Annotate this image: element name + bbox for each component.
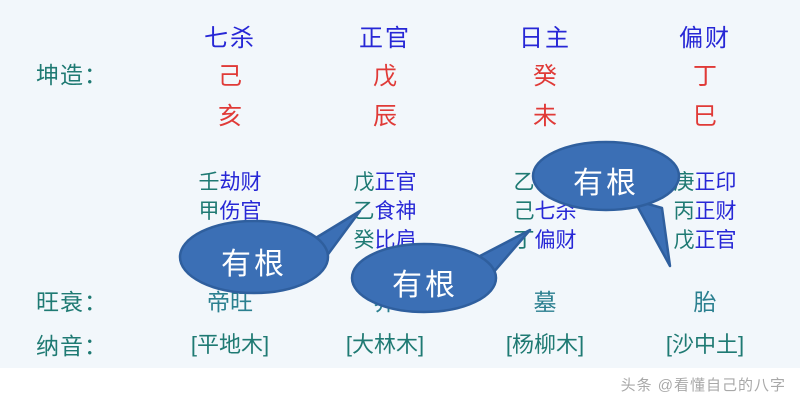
pillar-0-branch: 亥 xyxy=(155,96,305,131)
pillar-3-ten-god: 偏财 xyxy=(630,18,780,53)
callout-bubble-3[interactable]: 有根 xyxy=(528,136,728,276)
pillar-1-ten-god: 正官 xyxy=(310,18,460,53)
pillar-2-ten-god: 日主 xyxy=(470,18,620,53)
pillar-3-branch: 巳 xyxy=(630,96,780,131)
pillar-3-nayin: [沙中土] xyxy=(630,327,780,359)
callout-label-2: 有根 xyxy=(308,260,542,304)
pillar-1-hidden-stem-0: 戊 xyxy=(354,171,375,194)
pillar-1-branch: 辰 xyxy=(310,96,460,131)
row-label-chart: 坤造： xyxy=(36,56,108,90)
pillar-2-nayin: [杨柳木] xyxy=(470,327,620,359)
callout-label-3: 有根 xyxy=(484,158,728,202)
row-label-vigor: 旺衰： xyxy=(36,283,108,317)
pillar-3-stem: 丁 xyxy=(630,56,780,91)
pillar-0-hidden-row-0: 壬劫财 xyxy=(149,168,311,197)
pillar-1-hidden-god-1: 食神 xyxy=(375,200,417,223)
pillar-1-nayin: [大林木] xyxy=(310,327,460,359)
callout-shape-3 xyxy=(528,136,728,276)
bazi-chart-canvas: 坤造： 旺衰： 纳音： 七杀 己 亥 壬劫财 甲伤官 帝旺 [平地木] 正官 戊… xyxy=(0,0,800,400)
watermark: 头条 @看懂自己的八字 xyxy=(621,374,786,395)
row-label-nayin: 纳音： xyxy=(36,327,108,361)
pillar-2-stem: 癸 xyxy=(470,56,620,91)
pillar-0-stem: 己 xyxy=(155,56,305,91)
pillar-3-vigor: 胎 xyxy=(630,283,780,317)
pillar-1-stem: 戊 xyxy=(310,56,460,91)
pillar-1-hidden-god-0: 正官 xyxy=(375,171,417,194)
callout-bubble-2[interactable]: 有根 xyxy=(352,230,542,330)
pillar-2-branch: 未 xyxy=(470,96,620,131)
pillar-0-hidden-stem-0: 壬 xyxy=(199,171,220,194)
pillar-0-hidden-god-0: 劫财 xyxy=(220,171,262,194)
pillar-0-nayin: [平地木] xyxy=(155,327,305,359)
pillar-0-ten-god: 七杀 xyxy=(155,18,305,53)
pillar-1-hidden-row-0: 戊正官 xyxy=(304,168,466,197)
